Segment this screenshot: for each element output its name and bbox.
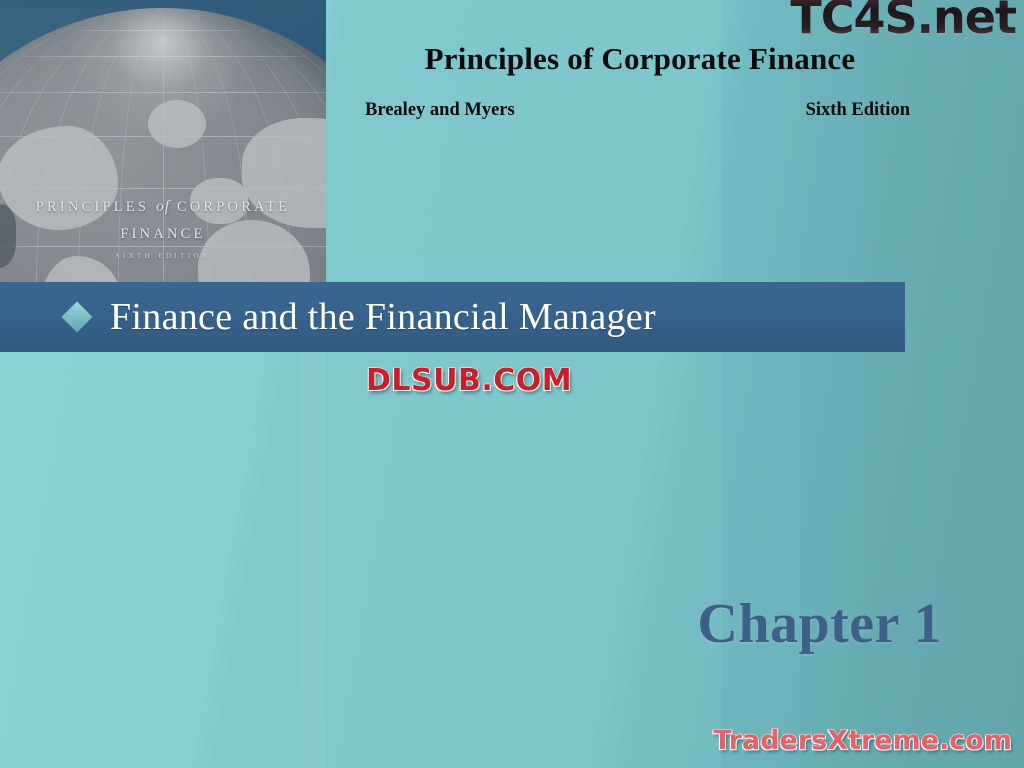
- landmass-greenland: [148, 100, 206, 148]
- watermark-dlsub: DLSUB.COM: [366, 363, 572, 398]
- watermark-tradersxtreme: TradersXtreme.com: [713, 725, 1012, 756]
- presentation-slide: PRINCIPLES of CORPORATE FINANCE SIXTH ED…: [0, 0, 1024, 768]
- book-cover-image: PRINCIPLES of CORPORATE FINANCE SIXTH ED…: [0, 0, 326, 283]
- slide-title-bar: Finance and the Financial Manager: [0, 282, 905, 352]
- cover-edition-label: SIXTH EDITION: [0, 252, 326, 260]
- cover-title-of: of: [156, 198, 170, 215]
- cover-title-principles: PRINCIPLES: [36, 199, 156, 215]
- book-authors: Brealey and Myers: [365, 100, 515, 121]
- book-edition: Sixth Edition: [806, 100, 910, 121]
- watermark-tc4s: TC4S.net: [790, 0, 1016, 44]
- cover-title-corporate: CORPORATE: [170, 199, 290, 215]
- chapter-label: Chapter 1: [697, 592, 942, 656]
- book-title: Principles of Corporate Finance: [365, 41, 915, 77]
- cover-title-line-2: FINANCE: [0, 226, 326, 243]
- cover-title-line-1: PRINCIPLES of CORPORATE: [0, 198, 326, 216]
- slide-title: Finance and the Financial Manager: [110, 295, 656, 339]
- diamond-bullet-icon: [61, 301, 92, 332]
